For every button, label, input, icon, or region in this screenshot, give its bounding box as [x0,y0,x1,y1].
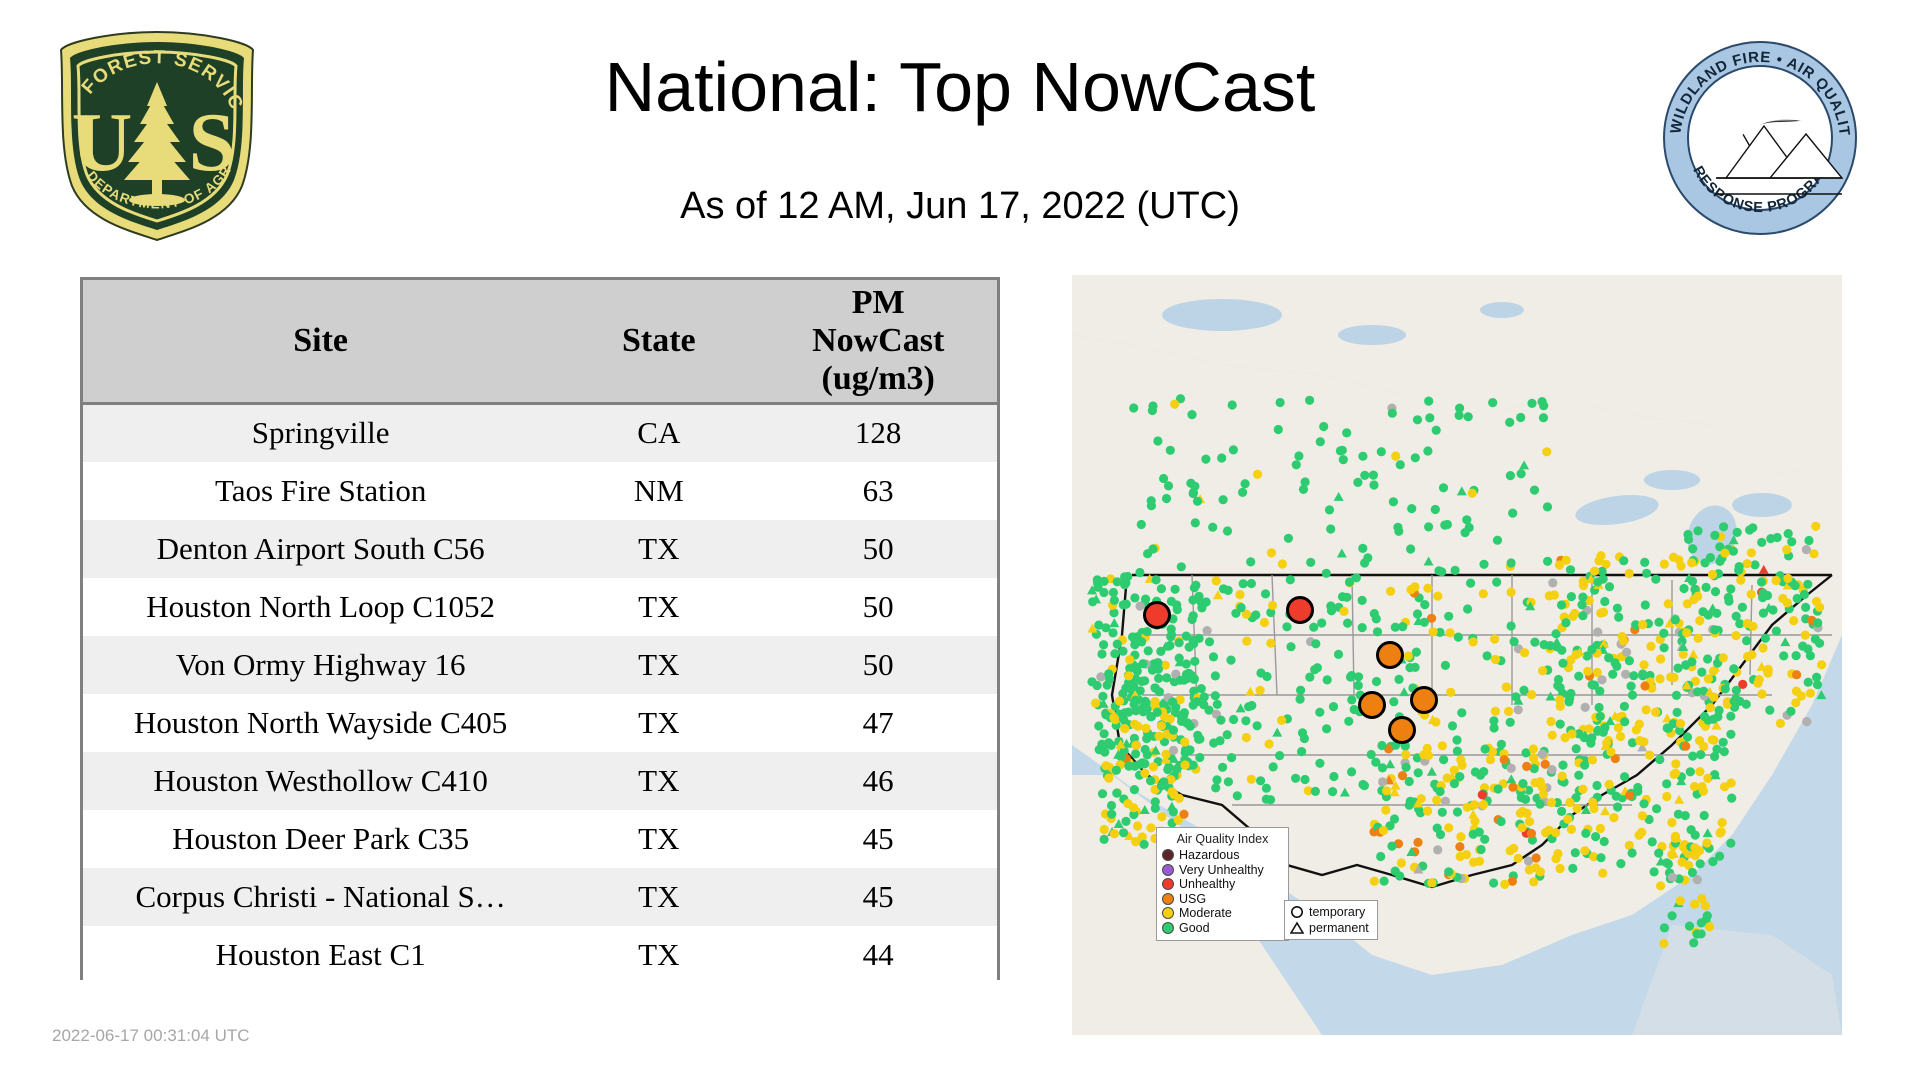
monitor-marker-temporary[interactable] [1334,650,1343,659]
monitor-marker-temporary[interactable] [1578,611,1587,620]
monitor-marker-temporary[interactable] [1223,526,1232,535]
monitor-marker-temporary[interactable] [1456,852,1465,861]
monitor-marker-temporary[interactable] [1129,403,1138,412]
top-site-marker-von-ormy[interactable] [1360,693,1385,718]
monitor-marker-temporary[interactable] [1110,649,1119,658]
monitor-marker-temporary[interactable] [1640,558,1649,567]
monitor-marker-temporary[interactable] [1382,786,1391,795]
monitor-marker-temporary[interactable] [1261,589,1270,598]
monitor-marker-temporary[interactable] [1809,549,1818,558]
monitor-marker-temporary[interactable] [1651,575,1660,584]
monitor-marker-temporary[interactable] [1275,751,1284,760]
monitor-marker-temporary[interactable] [1441,661,1450,670]
monitor-marker-temporary[interactable] [1444,867,1453,876]
monitor-marker-temporary[interactable] [1087,677,1096,686]
monitor-marker-temporary[interactable] [1656,654,1665,663]
monitor-marker-temporary[interactable] [1455,842,1464,851]
monitor-marker-temporary[interactable] [1190,675,1199,684]
monitor-marker-temporary[interactable] [1188,636,1197,645]
monitor-marker-temporary[interactable] [1694,634,1703,643]
monitor-marker-temporary[interactable] [1701,901,1710,910]
monitor-marker-temporary[interactable] [1396,460,1405,469]
monitor-marker-temporary[interactable] [1735,562,1744,571]
monitor-marker-temporary[interactable] [1112,766,1121,775]
monitor-marker-temporary[interactable] [1703,774,1712,783]
monitor-marker-temporary[interactable] [1211,671,1220,680]
monitor-marker-temporary[interactable] [1567,729,1576,738]
monitor-marker-temporary[interactable] [1547,765,1556,774]
monitor-marker-temporary[interactable] [1358,596,1367,605]
monitor-marker-temporary[interactable] [1671,759,1680,768]
monitor-marker-temporary[interactable] [1233,791,1242,800]
monitor-marker-temporary[interactable] [1193,497,1202,506]
monitor-marker-temporary[interactable] [1730,697,1739,706]
monitor-marker-temporary[interactable] [1813,618,1822,627]
monitor-marker-temporary[interactable] [1256,686,1265,695]
monitor-marker-temporary[interactable] [1681,742,1690,751]
monitor-marker-temporary[interactable] [1490,635,1499,644]
monitor-marker-temporary[interactable] [1731,631,1740,640]
monitor-marker-temporary[interactable] [1639,799,1648,808]
monitor-marker-temporary[interactable] [1787,537,1796,546]
monitor-marker-temporary[interactable] [1175,638,1184,647]
monitor-marker-temporary[interactable] [1478,790,1487,799]
monitor-marker-temporary[interactable] [1700,558,1709,567]
monitor-marker-temporary[interactable] [1129,803,1138,812]
monitor-marker-temporary[interactable] [1583,667,1592,676]
monitor-marker-temporary[interactable] [1757,538,1766,547]
monitor-marker-temporary[interactable] [1557,600,1566,609]
monitor-marker-temporary[interactable] [1747,548,1756,557]
monitor-marker-temporary[interactable] [1747,650,1756,659]
monitor-marker-temporary[interactable] [1695,616,1704,625]
column-header-pm-nowcast[interactable]: PM NowCast (ug/m3) [759,280,997,404]
monitor-marker-temporary[interactable] [1642,705,1651,714]
monitor-marker-temporary[interactable] [1555,560,1564,569]
monitor-marker-temporary[interactable] [1620,772,1629,781]
monitor-marker-temporary[interactable] [1153,708,1162,717]
monitor-marker-temporary[interactable] [1700,811,1709,820]
monitor-marker-temporary[interactable] [1784,529,1793,538]
monitor-marker-temporary[interactable] [1313,663,1322,672]
monitor-marker-temporary[interactable] [1525,817,1534,826]
monitor-marker-temporary[interactable] [1125,655,1134,664]
monitor-marker-temporary[interactable] [1635,720,1644,729]
monitor-marker-temporary[interactable] [1481,745,1490,754]
monitor-marker-temporary[interactable] [1130,720,1139,729]
monitor-marker-temporary[interactable] [1673,664,1682,673]
monitor-marker-temporary[interactable] [1339,455,1348,464]
monitor-marker-temporary[interactable] [1431,505,1440,514]
monitor-marker-temporary[interactable] [1191,518,1200,527]
monitor-marker-temporary[interactable] [1497,817,1506,826]
monitor-marker-temporary[interactable] [1679,584,1688,593]
monitor-marker-temporary[interactable] [1726,839,1735,848]
monitor-marker-permanent[interactable] [1457,486,1467,495]
monitor-marker-temporary[interactable] [1530,638,1539,647]
monitor-marker-temporary[interactable] [1705,922,1714,931]
top-site-marker-taos-fire-station[interactable] [1288,598,1313,623]
monitor-marker-temporary[interactable] [1606,747,1615,756]
monitor-marker-temporary[interactable] [1453,807,1462,816]
monitor-marker-temporary[interactable] [1152,575,1161,584]
monitor-marker-temporary[interactable] [1436,787,1445,796]
monitor-marker-temporary[interactable] [1443,773,1452,782]
monitor-marker-temporary[interactable] [1195,753,1204,762]
monitor-marker-temporary[interactable] [1492,578,1501,587]
monitor-marker-temporary[interactable] [1508,509,1517,518]
monitor-marker-temporary[interactable] [1100,825,1109,834]
monitor-marker-temporary[interactable] [1181,760,1190,769]
monitor-marker-temporary[interactable] [1580,846,1589,855]
monitor-marker-permanent[interactable] [1759,565,1769,574]
monitor-marker-temporary[interactable] [1591,832,1600,841]
monitor-marker-temporary[interactable] [1098,789,1107,798]
monitor-marker-temporary[interactable] [1589,804,1598,813]
monitor-marker-temporary[interactable] [1140,676,1149,685]
monitor-marker-temporary[interactable] [1628,691,1637,700]
monitor-marker-temporary[interactable] [1732,612,1741,621]
monitor-marker-temporary[interactable] [1693,592,1702,601]
monitor-marker-temporary[interactable] [1379,826,1388,835]
monitor-marker-temporary[interactable] [1203,626,1212,635]
monitor-marker-temporary[interactable] [1100,729,1109,738]
monitor-marker-temporary[interactable] [1185,745,1194,754]
monitor-marker-temporary[interactable] [1212,576,1221,585]
monitor-marker-temporary[interactable] [1543,502,1552,511]
monitor-marker-temporary[interactable] [1406,544,1415,553]
monitor-marker-temporary[interactable] [1552,642,1561,651]
monitor-marker-temporary[interactable] [1446,688,1455,697]
monitor-marker-temporary[interactable] [1455,404,1464,413]
monitor-marker-temporary[interactable] [1110,829,1119,838]
monitor-marker-temporary[interactable] [1698,607,1707,616]
monitor-marker-temporary[interactable] [1517,823,1526,832]
monitor-marker-temporary[interactable] [1588,755,1597,764]
monitor-marker-temporary[interactable] [1441,797,1450,806]
monitor-marker-temporary[interactable] [1130,785,1139,794]
monitor-marker-permanent[interactable] [1245,687,1255,696]
monitor-marker-temporary[interactable] [1758,643,1767,652]
monitor-marker-temporary[interactable] [1360,558,1369,567]
monitor-marker-temporary[interactable] [1590,567,1599,576]
monitor-marker-temporary[interactable] [1638,811,1647,820]
monitor-marker-temporary[interactable] [1539,401,1548,410]
monitor-marker-temporary[interactable] [1654,849,1663,858]
monitor-marker-temporary[interactable] [1703,911,1712,920]
monitor-marker-temporary[interactable] [1529,877,1538,886]
top-site-marker-houston-north-loop[interactable] [1412,688,1437,713]
monitor-marker-temporary[interactable] [1558,772,1567,781]
monitor-marker-temporary[interactable] [1419,750,1428,759]
monitor-marker-temporary[interactable] [1165,641,1174,650]
monitor-marker-temporary[interactable] [1479,560,1488,569]
monitor-marker-temporary[interactable] [1721,684,1730,693]
monitor-marker-temporary[interactable] [1131,706,1140,715]
monitor-marker-temporary[interactable] [1456,832,1465,841]
monitor-marker-temporary[interactable] [1504,707,1513,716]
monitor-marker-temporary[interactable] [1572,744,1581,753]
monitor-marker-temporary[interactable] [1574,771,1583,780]
monitor-marker-temporary[interactable] [1346,672,1355,681]
monitor-marker-temporary[interactable] [1098,692,1107,701]
monitor-marker-temporary[interactable] [1792,651,1801,660]
monitor-marker-temporary[interactable] [1369,471,1378,480]
monitor-marker-temporary[interactable] [1596,712,1605,721]
monitor-marker-temporary[interactable] [1154,674,1163,683]
monitor-marker-temporary[interactable] [1690,782,1699,791]
monitor-marker-temporary[interactable] [1153,436,1162,445]
monitor-marker-temporary[interactable] [1568,864,1577,873]
monitor-marker-temporary[interactable] [1199,700,1208,709]
monitor-marker-temporary[interactable] [1404,651,1413,660]
monitor-marker-temporary[interactable] [1104,738,1113,747]
monitor-marker-temporary[interactable] [1423,584,1432,593]
monitor-marker-temporary[interactable] [1699,742,1708,751]
monitor-marker-temporary[interactable] [1479,767,1488,776]
monitor-marker-temporary[interactable] [1539,413,1548,422]
monitor-marker-temporary[interactable] [1798,642,1807,651]
monitor-marker-temporary[interactable] [1468,489,1477,498]
monitor-marker-temporary[interactable] [1188,615,1197,624]
monitor-marker-temporary[interactable] [1262,784,1271,793]
monitor-marker-temporary[interactable] [1620,702,1629,711]
monitor-marker-temporary[interactable] [1100,748,1109,757]
monitor-marker-temporary[interactable] [1137,520,1146,529]
monitor-marker-temporary[interactable] [1377,447,1386,456]
monitor-marker-temporary[interactable] [1709,667,1718,676]
monitor-marker-temporary[interactable] [1708,735,1717,744]
table-row[interactable]: Von Ormy Highway 16TX50 [83,636,997,694]
monitor-marker-permanent[interactable] [1546,691,1556,700]
monitor-marker-temporary[interactable] [1432,426,1441,435]
monitor-marker-temporary[interactable] [1580,761,1589,770]
monitor-marker-temporary[interactable] [1646,642,1655,651]
monitor-marker-temporary[interactable] [1736,576,1745,585]
monitor-marker-temporary[interactable] [1679,650,1688,659]
monitor-marker-temporary[interactable] [1440,521,1449,530]
monitor-marker-temporary[interactable] [1491,707,1500,716]
monitor-marker-temporary[interactable] [1190,583,1199,592]
monitor-marker-temporary[interactable] [1614,613,1623,622]
monitor-marker-temporary[interactable] [1344,717,1353,726]
monitor-marker-temporary[interactable] [1387,842,1396,851]
monitor-marker-temporary[interactable] [1720,782,1729,791]
monitor-marker-temporary[interactable] [1157,812,1166,821]
monitor-marker-temporary[interactable] [1235,590,1244,599]
monitor-marker-permanent[interactable] [1272,728,1282,737]
monitor-marker-temporary[interactable] [1227,753,1236,762]
monitor-marker-temporary[interactable] [1268,601,1277,610]
monitor-marker-temporary[interactable] [1652,804,1661,813]
monitor-marker-temporary[interactable] [1329,702,1338,711]
monitor-marker-temporary[interactable] [1388,409,1397,418]
monitor-marker-temporary[interactable] [1598,869,1607,878]
monitor-marker-temporary[interactable] [1347,695,1356,704]
monitor-marker-temporary[interactable] [1557,807,1566,816]
monitor-marker-temporary[interactable] [1806,689,1815,698]
monitor-marker-temporary[interactable] [1471,767,1480,776]
monitor-marker-permanent[interactable] [1337,548,1347,557]
monitor-marker-temporary[interactable] [1391,452,1400,461]
monitor-marker-permanent[interactable] [1236,703,1246,712]
monitor-marker-temporary[interactable] [1153,658,1162,667]
monitor-marker-temporary[interactable] [1465,523,1474,532]
monitor-marker-temporary[interactable] [1229,445,1238,454]
monitor-marker-temporary[interactable] [1666,673,1675,682]
monitor-marker-temporary[interactable] [1596,853,1605,862]
monitor-marker-temporary[interactable] [1329,772,1338,781]
monitor-marker-temporary[interactable] [1197,598,1206,607]
monitor-marker-temporary[interactable] [1554,675,1563,684]
monitor-marker-temporary[interactable] [1592,781,1601,790]
monitor-marker-temporary[interactable] [1660,643,1669,652]
monitor-marker-temporary[interactable] [1107,810,1116,819]
monitor-marker-temporary[interactable] [1573,804,1582,813]
monitor-marker-temporary[interactable] [1782,545,1791,554]
monitor-marker-temporary[interactable] [1151,797,1160,806]
monitor-marker-temporary[interactable] [1493,536,1502,545]
monitor-marker-temporary[interactable] [1550,590,1559,599]
monitor-marker-temporary[interactable] [1556,864,1565,873]
monitor-marker-temporary[interactable] [1801,603,1810,612]
monitor-marker-temporary[interactable] [1338,446,1347,455]
monitor-marker-temporary[interactable] [1783,598,1792,607]
monitor-marker-temporary[interactable] [1147,501,1156,510]
monitor-marker-temporary[interactable] [1536,867,1545,876]
monitor-marker-temporary[interactable] [1212,775,1221,784]
monitor-marker-temporary[interactable] [1451,566,1460,575]
monitor-marker-temporary[interactable] [1633,787,1642,796]
monitor-marker-temporary[interactable] [1811,522,1820,531]
monitor-marker-temporary[interactable] [1469,637,1478,646]
table-row[interactable]: Houston East C1TX44 [83,926,997,984]
monitor-marker-temporary[interactable] [1750,560,1759,569]
monitor-marker-temporary[interactable] [1371,758,1380,767]
monitor-marker-temporary[interactable] [1595,687,1604,696]
monitor-marker-temporary[interactable] [1103,681,1112,690]
monitor-marker-temporary[interactable] [1401,750,1410,759]
monitor-marker-temporary[interactable] [1425,413,1434,422]
monitor-marker-temporary[interactable] [1247,579,1256,588]
monitor-marker-temporary[interactable] [1587,645,1596,654]
monitor-marker-temporary[interactable] [1389,697,1398,706]
monitor-marker-temporary[interactable] [1489,716,1498,725]
monitor-marker-temporary[interactable] [1604,653,1613,662]
monitor-marker-temporary[interactable] [1469,858,1478,867]
table-row[interactable]: Houston North Loop C1052TX50 [83,578,997,636]
monitor-marker-temporary[interactable] [1597,675,1606,684]
monitor-marker-temporary[interactable] [1594,556,1603,565]
monitor-marker-temporary[interactable] [1166,632,1175,641]
monitor-marker-temporary[interactable] [1402,763,1411,772]
monitor-marker-temporary[interactable] [1738,603,1747,612]
monitor-marker-temporary[interactable] [1747,590,1756,599]
monitor-marker-temporary[interactable] [1156,647,1165,656]
monitor-marker-temporary[interactable] [1266,639,1275,648]
monitor-marker-temporary[interactable] [1143,750,1152,759]
monitor-marker-temporary[interactable] [1146,823,1155,832]
monitor-marker-temporary[interactable] [1689,938,1698,947]
monitor-marker-temporary[interactable] [1567,825,1576,834]
monitor-marker-temporary[interactable] [1673,708,1682,717]
monitor-marker-temporary[interactable] [1241,716,1250,725]
monitor-marker-temporary[interactable] [1525,865,1534,874]
monitor-marker-temporary[interactable] [1224,777,1233,786]
monitor-marker-temporary[interactable] [1369,480,1378,489]
monitor-marker-temporary[interactable] [1124,671,1133,680]
monitor-marker-temporary[interactable] [1639,737,1648,746]
monitor-marker-temporary[interactable] [1753,679,1762,688]
monitor-marker-temporary[interactable] [1710,531,1719,540]
monitor-marker-temporary[interactable] [1479,589,1488,598]
monitor-marker-temporary[interactable] [1817,660,1826,669]
monitor-marker-temporary[interactable] [1488,398,1497,407]
monitor-marker-temporary[interactable] [1532,853,1541,862]
monitor-marker-temporary[interactable] [1276,398,1285,407]
monitor-marker-temporary[interactable] [1159,777,1168,786]
monitor-marker-temporary[interactable] [1239,579,1248,588]
monitor-marker-temporary[interactable] [1625,656,1634,665]
monitor-marker-temporary[interactable] [1099,588,1108,597]
monitor-marker-temporary[interactable] [1620,717,1629,726]
monitor-marker-temporary[interactable] [1131,696,1140,705]
monitor-marker-temporary[interactable] [1514,854,1523,863]
monitor-marker-temporary[interactable] [1719,522,1728,531]
monitor-marker-temporary[interactable] [1297,747,1306,756]
monitor-marker-temporary[interactable] [1189,488,1198,497]
monitor-marker-permanent[interactable] [1399,687,1409,696]
monitor-marker-temporary[interactable] [1246,557,1255,566]
monitor-marker-temporary[interactable] [1671,769,1680,778]
monitor-marker-temporary[interactable] [1688,752,1697,761]
monitor-marker-permanent[interactable] [1688,649,1698,658]
monitor-marker-temporary[interactable] [1715,852,1724,861]
monitor-marker-temporary[interactable] [1394,675,1403,684]
monitor-marker-temporary[interactable] [1558,659,1567,668]
monitor-marker-temporary[interactable] [1697,668,1706,677]
monitor-marker-temporary[interactable] [1779,651,1788,660]
monitor-marker-temporary[interactable] [1726,730,1735,739]
monitor-marker-temporary[interactable] [1372,677,1381,686]
monitor-marker-temporary[interactable] [1342,428,1351,437]
monitor-marker-temporary[interactable] [1393,523,1402,532]
monitor-marker-temporary[interactable] [1690,843,1699,852]
table-row[interactable]: Corpus Christi - National S…TX45 [83,868,997,926]
monitor-marker-temporary[interactable] [1641,600,1650,609]
monitor-marker-temporary[interactable] [1110,596,1119,605]
monitor-marker-temporary[interactable] [1121,817,1130,826]
monitor-marker-temporary[interactable] [1317,618,1326,627]
monitor-marker-temporary[interactable] [1667,818,1676,827]
monitor-marker-temporary[interactable] [1600,723,1609,732]
monitor-marker-temporary[interactable] [1660,560,1669,569]
monitor-marker-temporary[interactable] [1511,692,1520,701]
monitor-marker-temporary[interactable] [1186,479,1195,488]
monitor-marker-temporary[interactable] [1407,504,1416,513]
monitor-marker-temporary[interactable] [1578,785,1587,794]
monitor-marker-temporary[interactable] [1574,672,1583,681]
monitor-marker-temporary[interactable] [1477,845,1486,854]
monitor-marker-temporary[interactable] [1453,747,1462,756]
monitor-marker-temporary[interactable] [1224,586,1233,595]
monitor-marker-temporary[interactable] [1353,478,1362,487]
monitor-marker-temporary[interactable] [1424,397,1433,406]
monitor-marker-temporary[interactable] [1510,637,1519,646]
monitor-marker-temporary[interactable] [1715,706,1724,715]
monitor-marker-temporary[interactable] [1804,678,1813,687]
monitor-marker-temporary[interactable] [1112,789,1121,798]
